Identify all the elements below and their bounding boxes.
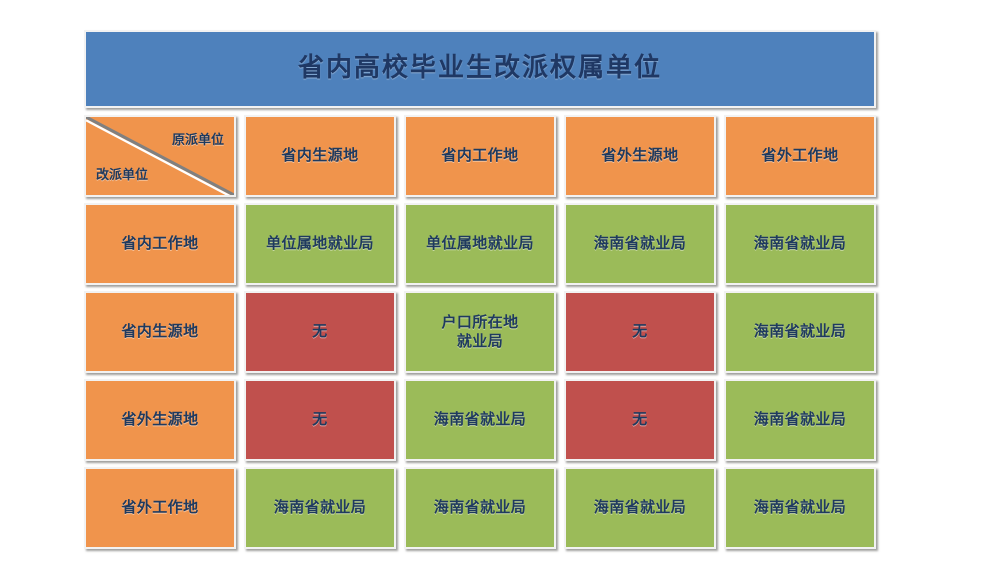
matrix-cell-value: 海南省就业局 [750,322,850,341]
matrix-cell-value: 海南省就业局 [750,410,850,429]
column-header-label: 省外生源地 [597,146,682,165]
row-header-0: 省内工作地 [84,203,236,285]
diagram-title-banner: 省内高校毕业生改派权属单位 [84,30,876,108]
matrix-cell-value: 单位属地就业局 [422,234,538,253]
matrix-cell-value: 无 [628,410,651,429]
column-axis-label: 原派单位 [172,129,224,148]
matrix-cell-value: 单位属地就业局 [262,234,378,253]
column-header-label: 省外工作地 [757,146,842,165]
dispatch-matrix-diagram: 省内高校毕业生改派权属单位 原派单位 改派单位 省内生源地 省内工作地 省外生源… [84,30,876,542]
matrix-cell-value: 海南省就业局 [430,410,530,429]
matrix-cell-r2c3: 海南省就业局 [724,379,876,461]
row-header-label: 省外生源地 [117,410,202,429]
matrix-cell-r1c2: 无 [564,291,716,373]
matrix-cell-r3c1: 海南省就业局 [404,467,556,549]
matrix-cell-r1c0: 无 [244,291,396,373]
matrix-cell-value: 无 [308,322,331,341]
row-header-label: 省内工作地 [117,234,202,253]
matrix-cell-r3c3: 海南省就业局 [724,467,876,549]
column-header-3: 省外工作地 [724,115,876,197]
matrix-cell-value: 海南省就业局 [590,234,690,253]
matrix-cell-r0c0: 单位属地就业局 [244,203,396,285]
matrix-cell-value: 无 [308,410,331,429]
matrix-cell-value: 海南省就业局 [750,498,850,517]
row-header-label: 省外工作地 [117,498,202,517]
column-header-2: 省外生源地 [564,115,716,197]
matrix-cell-r0c2: 海南省就业局 [564,203,716,285]
row-header-label: 省内生源地 [117,322,202,341]
matrix-cell-r3c0: 海南省就业局 [244,467,396,549]
row-header-2: 省外生源地 [84,379,236,461]
matrix-cell-r3c2: 海南省就业局 [564,467,716,549]
matrix-corner-header: 原派单位 改派单位 [84,115,236,197]
matrix-cell-value: 户口所在地 就业局 [437,313,522,351]
matrix-cell-r0c1: 单位属地就业局 [404,203,556,285]
column-header-label: 省内工作地 [437,146,522,165]
matrix-cell-value: 无 [628,322,651,341]
matrix-cell-r1c3: 海南省就业局 [724,291,876,373]
matrix-cell-r1c1: 户口所在地 就业局 [404,291,556,373]
matrix-cell-r0c3: 海南省就业局 [724,203,876,285]
row-axis-label: 改派单位 [96,164,148,183]
matrix-cell-value: 海南省就业局 [270,498,370,517]
column-header-label: 省内生源地 [277,146,362,165]
page-title: 省内高校毕业生改派权属单位 [294,52,666,85]
column-header-1: 省内工作地 [404,115,556,197]
row-header-1: 省内生源地 [84,291,236,373]
matrix-cell-value: 海南省就业局 [750,234,850,253]
matrix-cell-r2c1: 海南省就业局 [404,379,556,461]
column-header-0: 省内生源地 [244,115,396,197]
matrix-cell-value: 海南省就业局 [590,498,690,517]
row-header-3: 省外工作地 [84,467,236,549]
matrix-cell-r2c2: 无 [564,379,716,461]
matrix-cell-value: 海南省就业局 [430,498,530,517]
matrix-cell-r2c0: 无 [244,379,396,461]
